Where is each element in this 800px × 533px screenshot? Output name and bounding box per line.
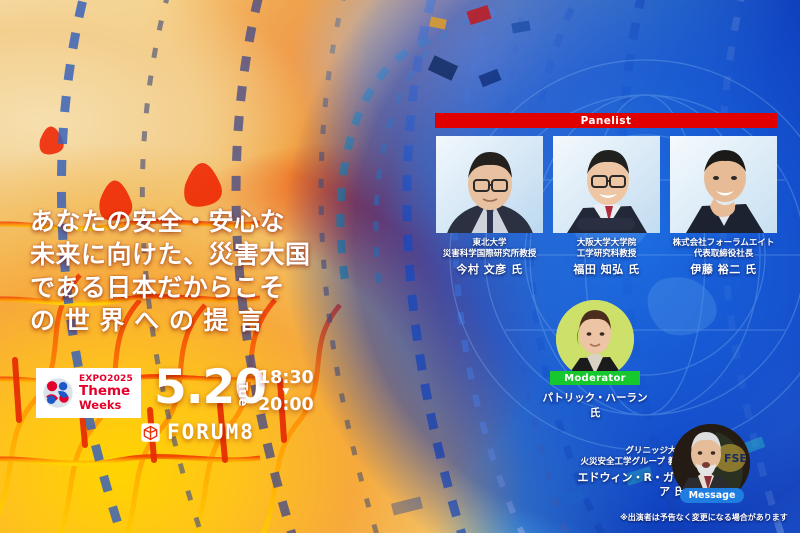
message-badge: Message xyxy=(680,488,744,503)
panelist-name: 今村 文彦 氏 xyxy=(436,263,543,277)
panelist-photo-imamura xyxy=(436,136,543,233)
title-line-3: である日本だからこそ xyxy=(30,271,320,304)
expo-theme-weeks-logo: EXPO2025 Theme Weeks xyxy=(36,368,141,418)
message-org-line1: グリニッジ大学 xyxy=(575,446,685,457)
forum8-logo: FORUM8 xyxy=(140,420,255,444)
panelist-name: 伊藤 裕二 氏 xyxy=(670,263,777,277)
panelist-org-line1: 大阪大学大学院 xyxy=(553,238,660,249)
panelist-photo-fukuda xyxy=(553,136,660,233)
message-card: グリニッジ大学 火災安全工学グループ 教授 エドウィン・R・ガリア 氏 FSE … xyxy=(575,424,800,504)
event-time-end: 20:00 xyxy=(258,397,314,415)
title-line-2: 未来に向けた、災害大国 xyxy=(30,238,320,271)
title-line-1: あなたの安全・安心な xyxy=(30,205,320,238)
panelist-caption: 株式会社フォーラムエイト 代表取締役社長 伊藤 裕二 氏 xyxy=(670,238,777,277)
forum8-wordmark: FORUM8 xyxy=(167,420,255,444)
message-caption: グリニッジ大学 火災安全工学グループ 教授 エドウィン・R・ガリア 氏 xyxy=(575,446,685,500)
panelist-org-line2: 災害科学国際研究所教授 xyxy=(436,249,543,260)
moderator-card: Moderator パトリック・ハーラン 氏 xyxy=(540,300,650,420)
moderator-name: パトリック・ハーラン 氏 xyxy=(540,390,650,420)
panelist-org-line2: 工学研究科教授 xyxy=(553,249,660,260)
panelist-card: 東北大学 災害科学国際研究所教授 今村 文彦 氏 xyxy=(436,136,543,277)
title-line-4: の 世 界 へ の 提 言 xyxy=(30,304,320,337)
event-time: 18:30 ▼ 20:00 xyxy=(258,370,314,414)
panelist-list: 東北大学 災害科学国際研究所教授 今村 文彦 氏 xyxy=(436,136,778,277)
panelist-photo-ito xyxy=(670,136,777,233)
panelist-banner: Panelist xyxy=(435,113,777,128)
disclaimer-text: ※出演者は予告なく変更になる場合があります xyxy=(620,512,788,523)
message-name: エドウィン・R・ガリア 氏 xyxy=(575,471,685,500)
moderator-photo-patrick xyxy=(556,300,634,378)
svg-text:FSE: FSE xyxy=(724,452,747,465)
event-poster: あなたの安全・安心な 未来に向けた、災害大国 である日本だからこそ の 世 界 … xyxy=(0,0,800,533)
poster-title: あなたの安全・安心な 未来に向けた、災害大国 である日本だからこそ の 世 界 … xyxy=(30,205,320,337)
expo-logo-line2: Theme xyxy=(79,385,133,399)
panelist-org-line2: 代表取締役社長 xyxy=(670,249,777,260)
event-time-start: 18:30 xyxy=(258,370,314,388)
event-info-row: EXPO2025 Theme Weeks 5.20 Tue 18:30 ▼ 20… xyxy=(36,368,326,424)
forum8-cube-icon xyxy=(140,422,161,443)
panelist-org-line1: 東北大学 xyxy=(436,238,543,249)
moderator-badge: Moderator xyxy=(550,371,640,385)
panelist-caption: 大阪大学大学院 工学研究科教授 福田 知弘 氏 xyxy=(553,238,660,277)
message-org-line2: 火災安全工学グループ 教授 xyxy=(575,457,685,468)
panelist-name: 福田 知弘 氏 xyxy=(553,263,660,277)
panelist-org-line1: 株式会社フォーラムエイト xyxy=(670,238,777,249)
panelist-card: 株式会社フォーラムエイト 代表取締役社長 伊藤 裕二 氏 xyxy=(670,136,777,277)
expo-logo-line3: Weeks xyxy=(79,400,133,412)
panelist-caption: 東北大学 災害科学国際研究所教授 今村 文彦 氏 xyxy=(436,238,543,277)
expo-globe-icon xyxy=(41,376,75,410)
panelist-card: 大阪大学大学院 工学研究科教授 福田 知弘 氏 xyxy=(553,136,660,277)
event-day-of-week: Tue xyxy=(236,382,251,407)
